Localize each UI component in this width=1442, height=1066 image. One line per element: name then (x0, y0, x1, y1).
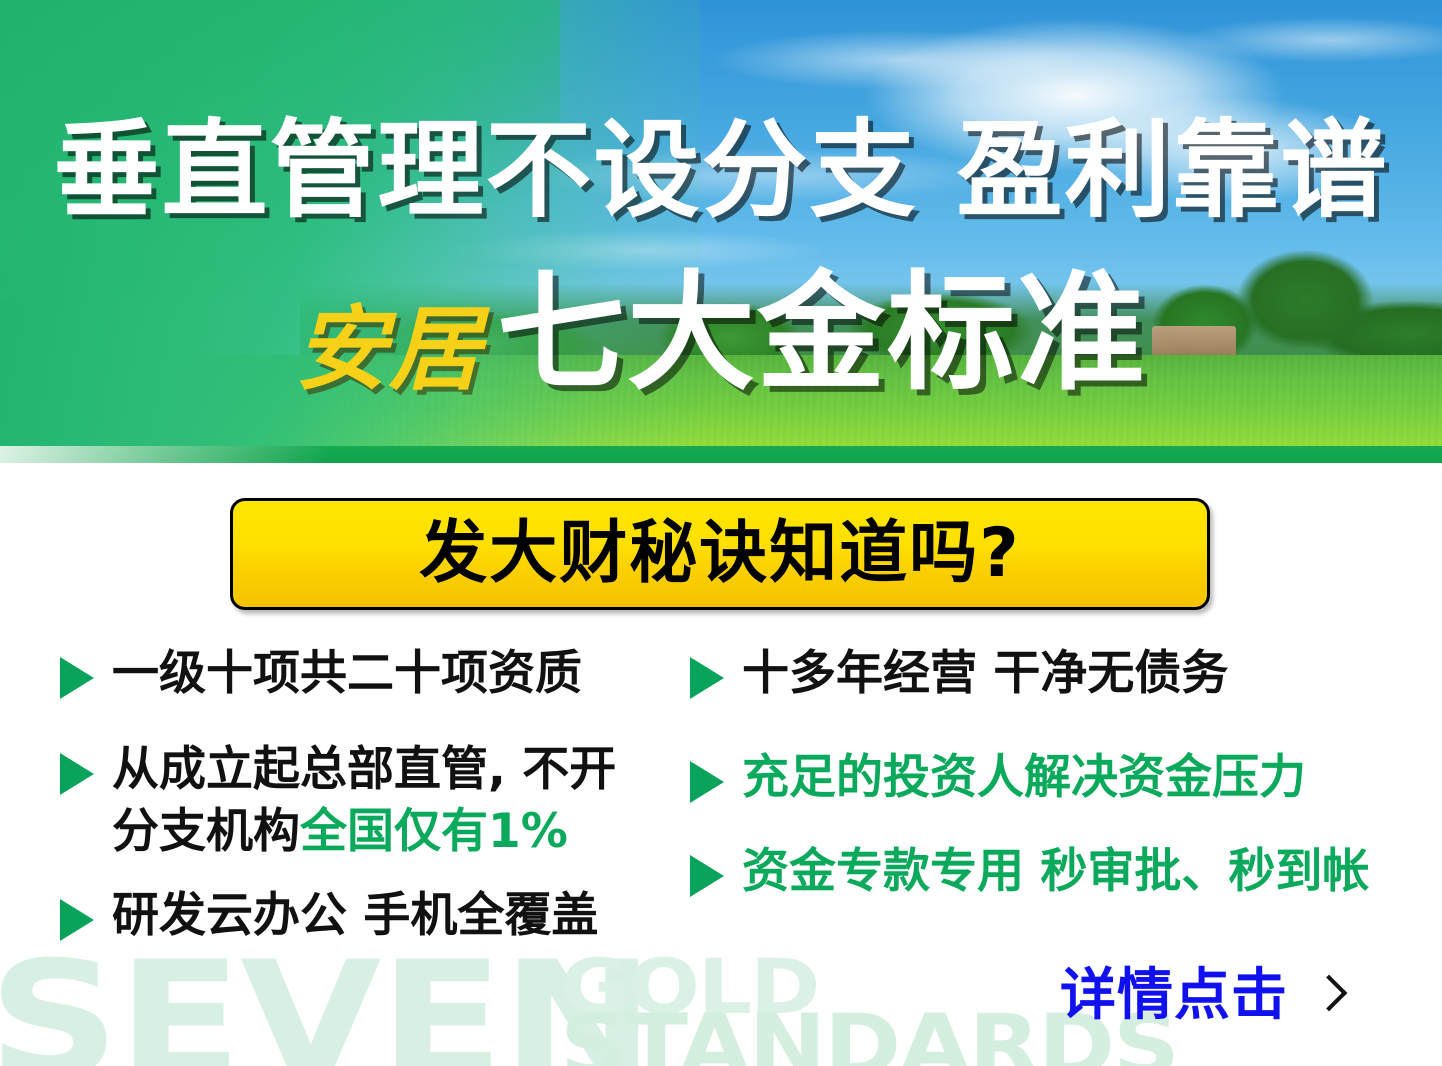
question-banner[interactable]: 发大财秘诀知道吗? (230, 498, 1210, 610)
feature-item: 研发云办公 手机全覆盖 (60, 885, 680, 947)
triangle-bullet-icon (60, 657, 94, 699)
hero-headline: 垂直管理不设分支 盈利靠谱 (0, 118, 1442, 224)
triangle-bullet-icon (60, 753, 94, 795)
hero-section: 垂直管理不设分支 盈利靠谱 安居七大金标准 (0, 0, 1442, 463)
feature-item-text: 研发云办公 手机全覆盖 (112, 885, 598, 947)
details-cta-label: 详情点击 (1060, 968, 1288, 1024)
feature-line-1: 从成立起总部直管, 不开 (112, 742, 616, 797)
feature-column-left: 一级十项共二十项资质 从成立起总部直管, 不开分支机构全国仅有1% 研发云办公 … (60, 643, 680, 973)
triangle-bullet-icon (690, 761, 724, 803)
triangle-bullet-icon (690, 657, 724, 699)
triangle-bullet-icon (60, 899, 94, 941)
hero-bottom-strip-fade (0, 446, 330, 463)
advertisement-banner: 垂直管理不设分支 盈利靠谱 安居七大金标准 SEVEN GOLD STANDAR… (0, 0, 1442, 1066)
feature-item: 十多年经营 干净无债务 (690, 643, 1420, 705)
feature-item-text: 充足的投资人解决资金压力 (742, 747, 1306, 809)
feature-line-2-highlight: 全国仅有1% (300, 804, 568, 859)
feature-item-text: 从成立起总部直管, 不开分支机构全国仅有1% (112, 739, 616, 863)
chevron-right-icon (1314, 974, 1340, 1018)
triangle-bullet-icon (690, 855, 724, 897)
feature-column-right: 十多年经营 干净无债务 充足的投资人解决资金压力 资金专款专用 秒审批、秒到帐 (690, 643, 1420, 929)
feature-line-2-plain: 分支机构 (112, 804, 300, 859)
hero-subline-main: 七大金标准 (497, 259, 1147, 408)
feature-item-text: 十多年经营 干净无债务 (742, 643, 1228, 705)
feature-item: 资金专款专用 秒审批、秒到帐 (690, 841, 1420, 903)
feature-item: 充足的投资人解决资金压力 (690, 747, 1420, 809)
feature-item-text: 资金专款专用 秒审批、秒到帐 (742, 841, 1369, 903)
question-banner-text: 发大财秘诀知道吗? (419, 520, 1020, 588)
hero-brand-text: 安居 (295, 295, 483, 403)
details-cta-button[interactable]: 详情点击 (1060, 968, 1340, 1024)
feature-item-text: 一级十项共二十项资质 (112, 643, 582, 705)
feature-item: 一级十项共二十项资质 (60, 643, 680, 705)
hero-subline: 安居七大金标准 (0, 270, 1442, 398)
feature-item: 从成立起总部直管, 不开分支机构全国仅有1% (60, 739, 680, 863)
